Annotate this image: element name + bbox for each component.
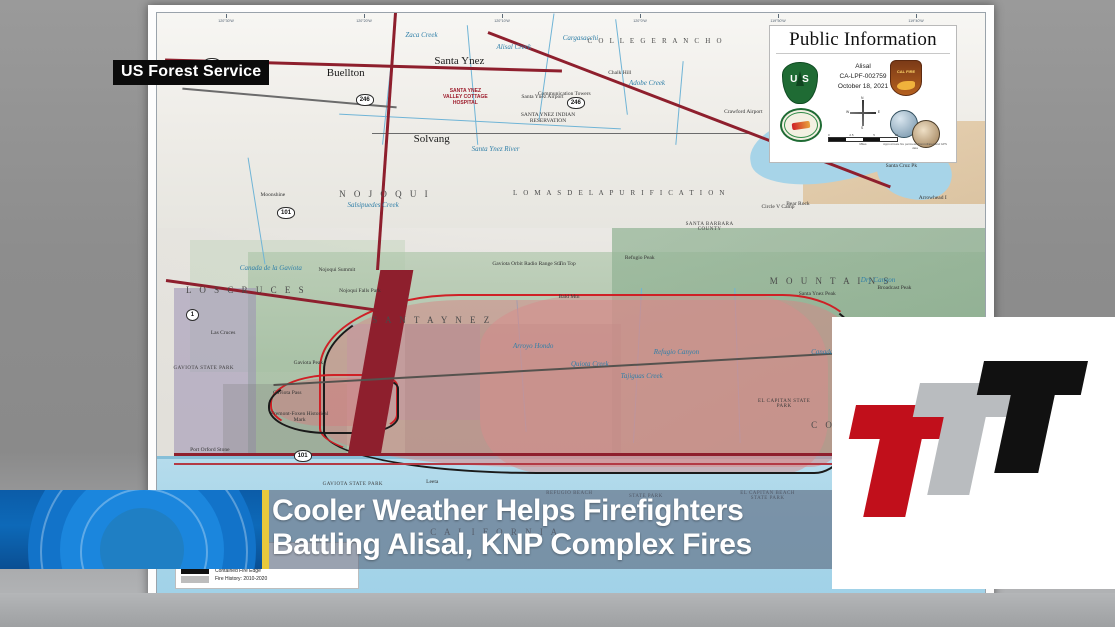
map-park-label: GAVIOTA STATE PARK xyxy=(323,482,383,487)
graticule-tick-label: 120°0'W xyxy=(633,19,647,23)
map-place-label: Nojoqui Falls Park xyxy=(339,288,381,294)
map-place-label: Circle V Camp xyxy=(761,204,794,210)
graticule-tick-label: 120°20'W xyxy=(356,19,372,23)
map-park-label: SANTA BARBARA COUNTY xyxy=(679,222,741,232)
info-box-title: Public Information xyxy=(770,26,956,51)
tmz-style-logo-card xyxy=(832,317,1115,589)
graticule-tick xyxy=(226,14,227,18)
flame-icon xyxy=(897,81,915,90)
source-credit-bug: US Forest Service xyxy=(113,60,269,85)
compass-rose-icon: N S E W xyxy=(850,100,876,126)
map-place-label: SANTA YNEZ INDIAN RESERVATION xyxy=(513,112,583,124)
map-place-label: Port Orford Stone xyxy=(190,447,229,453)
bottom-edge-strip xyxy=(0,593,1115,627)
map-place-label: Bear Rock xyxy=(786,201,809,207)
cbs-eye-logo xyxy=(0,490,262,569)
map-area-label: L O S C R U C E S xyxy=(186,285,307,295)
graticule-tick xyxy=(502,14,503,18)
route-shield-246: 246 xyxy=(567,97,585,109)
map-place-label: Bald Mtn xyxy=(559,294,580,300)
compass-east-label: E xyxy=(878,110,880,114)
map-town-label: Buellton xyxy=(327,67,365,79)
map-place-label: Fremont-Foxen Historical Mark xyxy=(265,411,335,423)
graticule-tick xyxy=(364,14,365,18)
map-place-label: Santa Ynez Airport xyxy=(521,94,563,100)
scale-tick: 2.5 xyxy=(849,133,853,137)
hospital-line-1: SANTA YNEZ xyxy=(434,88,496,94)
map-water-label: Arroyo Hondo xyxy=(513,342,553,350)
map-town-label: Solvang xyxy=(414,133,450,145)
map-date: October 18, 2021 xyxy=(838,82,888,92)
map-place-label: Moonshine xyxy=(261,192,286,198)
legend-swatch-fire-history xyxy=(181,576,209,583)
map-area-label: S A N T A Y N E Z xyxy=(372,315,492,325)
map-place-label: Broadcast Peak xyxy=(877,285,911,291)
chyron-headline-line1: Cooler Weather Helps Firefighters xyxy=(272,494,743,528)
usfs-shield-logo xyxy=(782,62,818,104)
map-water-label: Salsipuedes Creek xyxy=(347,201,398,209)
lower-third-chyron: Cooler Weather Helps Firefighters Battli… xyxy=(0,490,845,569)
route-shield-1: 1 xyxy=(186,309,199,321)
graticule-tick-label: 119°50'W xyxy=(770,19,785,23)
graticule-tick xyxy=(778,14,779,18)
map-place-label: Gaviota Peak xyxy=(294,360,323,366)
map-water-label: Dry Canyon xyxy=(861,276,895,284)
route-shield-101: 101 xyxy=(294,450,312,462)
fire-name: Alisal xyxy=(838,62,888,72)
map-place-label: Leeta xyxy=(426,479,438,485)
map-park-label: GAVIOTA STATE PARK xyxy=(174,366,234,371)
map-park-label: EL CAPITAN STATE PARK xyxy=(753,399,815,409)
legend-label: Fire History: 2010-2020 xyxy=(215,576,267,582)
map-place-label: Nojoqui Summit xyxy=(318,267,355,273)
map-area-label: C O L L E G E R A N C H O xyxy=(588,37,724,45)
map-water-label: Zaca Creek xyxy=(405,31,437,39)
divider xyxy=(776,53,950,54)
route-shield-101: 101 xyxy=(277,207,295,219)
map-water-label: Santa Ynez River xyxy=(472,145,520,153)
cal-fire-badge xyxy=(890,60,922,96)
broadcast-screenshot: S A N T A Y N E ZM O U N T A I N SL O M … xyxy=(0,0,1115,627)
map-water-label: Quiota Creek xyxy=(571,360,609,368)
map-place-label: Communication Towers xyxy=(538,91,591,97)
scale-tick: 5 xyxy=(873,133,875,137)
incident-number: CA-LPF-002759 xyxy=(838,72,888,82)
map-water-label: Canada de la Gaviota xyxy=(240,264,302,272)
graticule-tick-label: 119°40'W xyxy=(908,19,923,23)
graticule-tick xyxy=(640,14,641,18)
scale-tick: 10 xyxy=(895,133,898,137)
map-water-label: Alisal Creek xyxy=(496,43,531,51)
map-water-label: Adobe Creek xyxy=(629,79,665,87)
map-place-label: Arrowhead I xyxy=(919,195,947,201)
pine-tree-icon xyxy=(796,71,804,86)
map-water-label: Tajiguas Creek xyxy=(621,372,663,380)
legend-row: Fire History: 2010-2020 xyxy=(181,576,353,583)
incident-identity: Alisal CA-LPF-002759 October 18, 2021 xyxy=(838,62,888,92)
hospital-label: SANTA YNEZVALLEY COTTAGEHOSPITAL xyxy=(434,88,496,107)
map-place-label: Gaviota Pass xyxy=(273,390,302,396)
map-area-label: M O U N T A I N S xyxy=(770,276,892,286)
map-place-label: Santa Cruz Pk xyxy=(886,163,917,169)
map-place-label: Chalk Hill xyxy=(608,70,631,76)
graticule-tick xyxy=(916,14,917,18)
chyron-headline-line2: Battling Alisal, KNP Complex Fires xyxy=(272,528,752,562)
graticule-tick-label: 120°10'W xyxy=(494,19,510,23)
chyron-divider xyxy=(262,490,269,569)
scale-tick: 0 xyxy=(828,133,830,137)
public-information-box: Public Information Alisal CA-LPF-002759 … xyxy=(769,25,957,163)
map-scale-bar: 02.5510 Miles xyxy=(828,133,898,146)
scale-unit-label: Miles xyxy=(828,142,898,146)
map-area-label: N O J O Q U I xyxy=(339,189,431,199)
compass-south-label: S xyxy=(861,126,863,130)
graticule-tick-label: 120°30'W xyxy=(218,19,234,23)
map-town-label: Santa Ynez xyxy=(434,55,484,67)
map-water-label: Refugio Canyon xyxy=(654,348,699,356)
map-place-label: Las Cruces xyxy=(211,330,236,336)
map-place-label: Santa Ynez Peak xyxy=(799,291,836,297)
route-shield-246: 246 xyxy=(356,94,374,106)
map-place-label: Crawford Airport xyxy=(724,109,762,115)
hospital-line-2: VALLEY COTTAGE xyxy=(434,94,496,100)
chyron-text-panel: Cooler Weather Helps Firefighters Battli… xyxy=(269,490,845,569)
map-place-label: Refugio Peak xyxy=(625,255,655,261)
map-water-label: Cargasacchi xyxy=(563,34,599,42)
cal-oes-seal xyxy=(780,108,822,142)
map-place-label: Tin Top xyxy=(559,261,576,267)
hospital-line-3: HOSPITAL xyxy=(434,100,496,106)
map-area-label: L O M A S D E L A P U R I F I C A T I O … xyxy=(513,189,727,197)
compass-north-label: N xyxy=(861,96,863,100)
map-place-label: Gaviota Orbit Radio Range Sta xyxy=(492,261,561,267)
compass-west-label: W xyxy=(846,110,849,114)
